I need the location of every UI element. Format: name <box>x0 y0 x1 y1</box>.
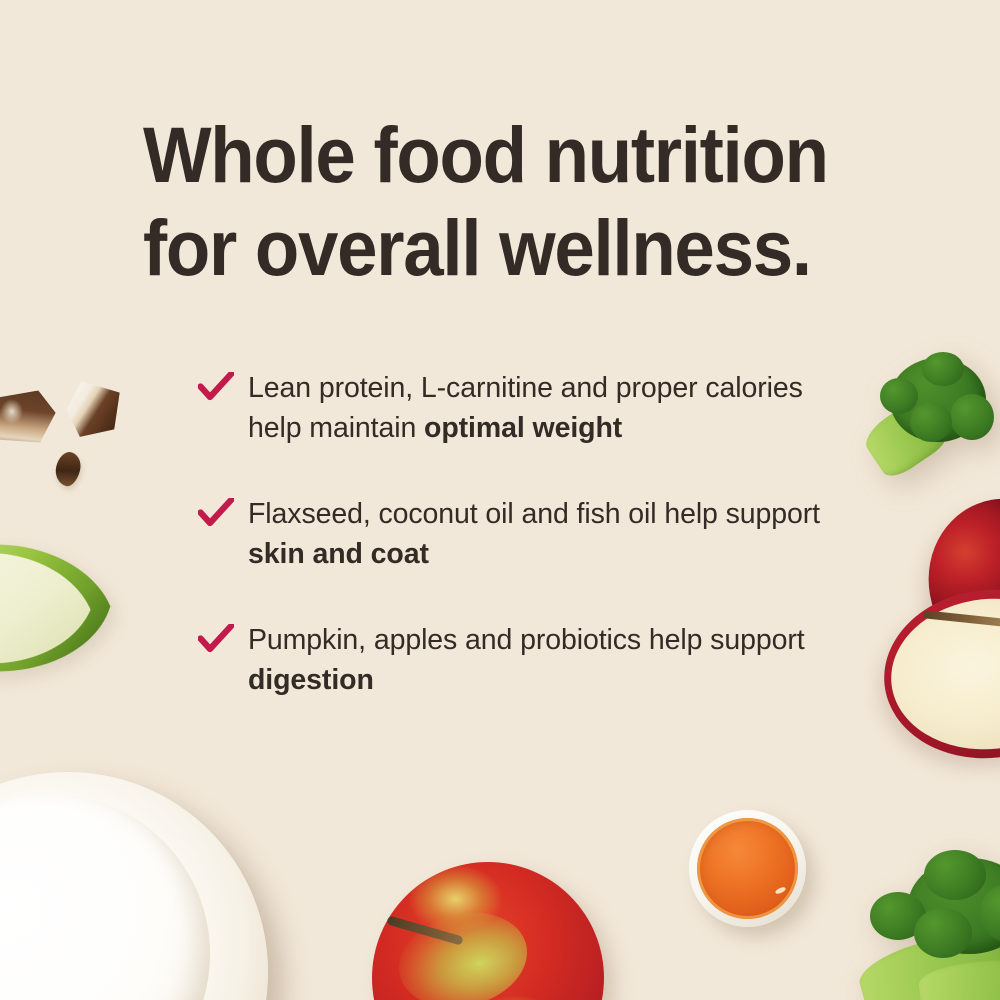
benefit-text-regular: Pumpkin, apples and probiotics help supp… <box>248 624 805 656</box>
oil-surface <box>697 818 798 919</box>
benefit-text-emphasis: digestion <box>248 664 374 696</box>
broccoli-top-right <box>866 350 998 478</box>
coconut-half <box>0 772 268 1000</box>
checkmark-icon <box>198 372 234 402</box>
oil-highlight <box>774 886 786 895</box>
broccoli-bud <box>924 850 986 900</box>
benefit-text-emphasis: skin and coat <box>248 538 429 570</box>
benefit-item-skin-and-coat: Flaxseed, coconut oil and fish oil help … <box>198 494 858 574</box>
benefit-text: Lean protein, L-carnitine and proper cal… <box>248 368 858 448</box>
broccoli-bud <box>914 908 972 958</box>
oil-bowl <box>689 810 806 927</box>
broccoli-bud <box>922 352 964 386</box>
apple-stem-well <box>389 900 537 1000</box>
apple-stem-icon <box>923 610 1000 627</box>
broccoli-bud <box>880 378 918 414</box>
red-apple-bottom <box>372 862 604 1000</box>
benefit-text: Flaxseed, coconut oil and fish oil help … <box>248 494 858 574</box>
broccoli-bud <box>950 394 994 440</box>
benefit-item-optimal-weight: Lean protein, L-carnitine and proper cal… <box>198 368 858 448</box>
poster-canvas: Whole food nutrition for overall wellnes… <box>0 0 1000 1000</box>
coconut-flesh <box>0 794 210 1000</box>
benefit-item-digestion: Pumpkin, apples and probiotics help supp… <box>198 620 858 700</box>
broccoli-bud <box>910 402 952 442</box>
checkmark-icon <box>198 624 234 654</box>
benefit-text: Pumpkin, apples and probiotics help supp… <box>248 620 858 700</box>
benefit-text-emphasis: optimal weight <box>424 412 622 444</box>
coconut-meat-shard <box>60 380 121 443</box>
benefits-list: Lean protein, L-carnitine and proper cal… <box>198 368 858 700</box>
checkmark-icon <box>198 498 234 528</box>
coconut-shell-shard-large <box>0 389 59 447</box>
broccoli-bottom-right <box>862 858 1000 1000</box>
apple-flesh <box>884 589 1000 759</box>
coconut-shell-crumb <box>52 450 84 489</box>
red-apple-half-right <box>876 579 1000 768</box>
green-apple-slice <box>0 528 122 680</box>
page-title: Whole food nutrition for overall wellnes… <box>143 108 861 294</box>
benefit-text-regular: Flaxseed, coconut oil and fish oil help … <box>248 498 820 530</box>
